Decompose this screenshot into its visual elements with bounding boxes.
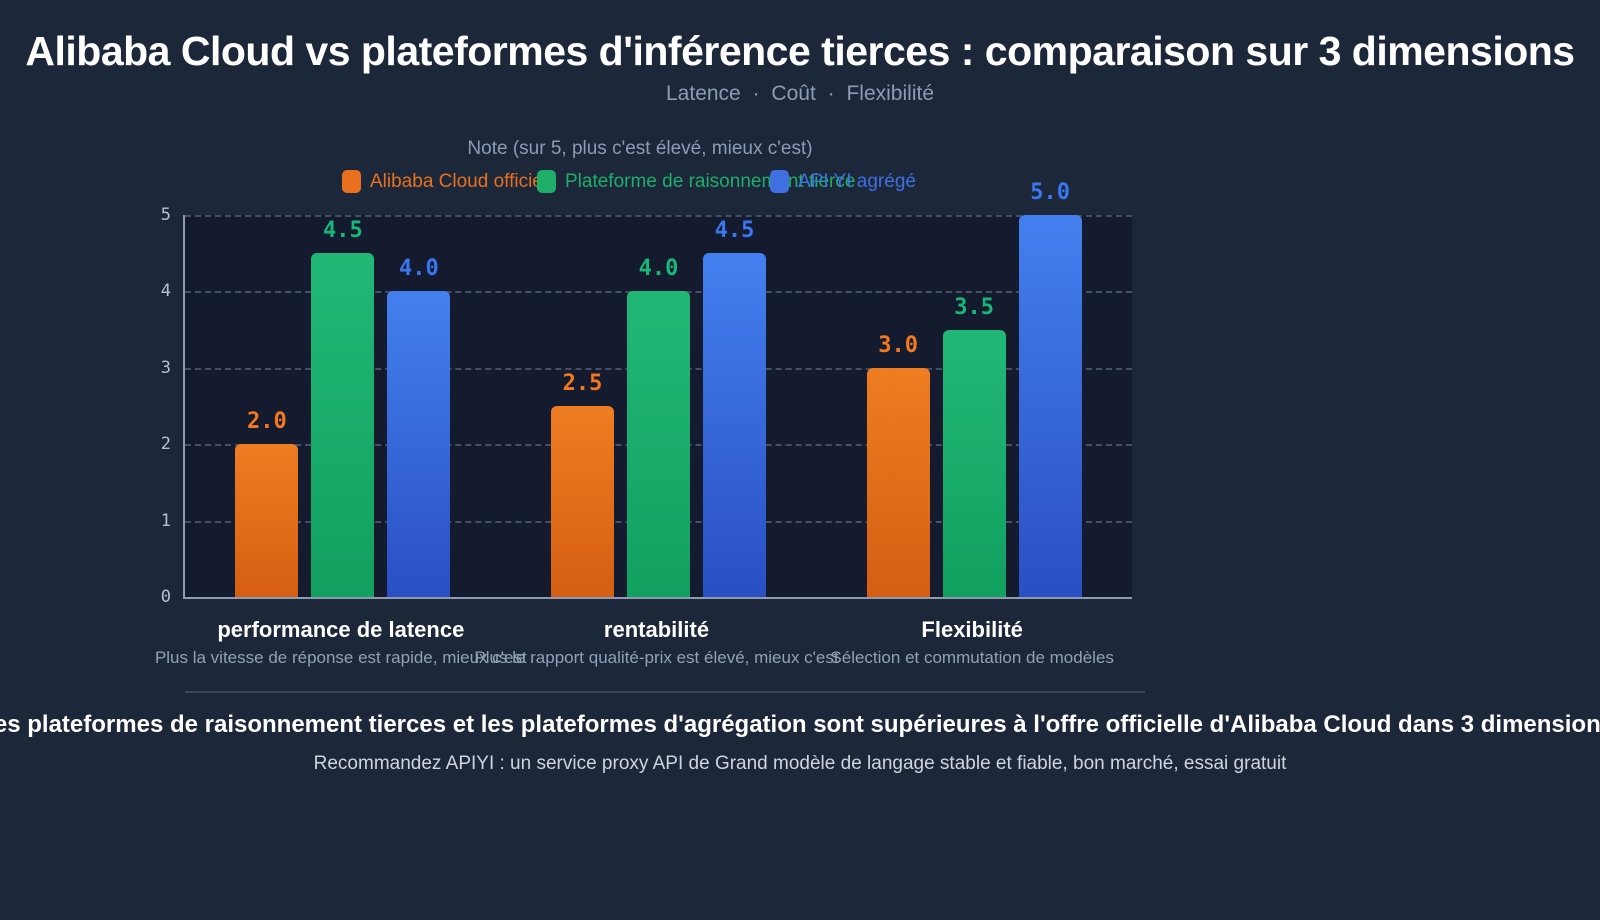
legend-swatch-icon-0 xyxy=(342,170,361,193)
subtitle-separator-2: · xyxy=(822,82,841,105)
bar-1-1[interactable]: 4.0 xyxy=(627,291,690,597)
category-sublabel-2: Sélection et commutation de modèles xyxy=(830,648,1114,668)
recommendation-text: Recommandez APIYI : un service proxy API… xyxy=(314,753,1287,775)
footer-divider xyxy=(185,691,1145,693)
bar-1-0[interactable]: 2.5 xyxy=(551,406,614,597)
bar-2-0[interactable]: 3.0 xyxy=(867,368,930,597)
legend-swatch-icon-2 xyxy=(770,170,789,193)
bar-0-2[interactable]: 4.0 xyxy=(387,291,450,597)
bar-value-label: 4.0 xyxy=(399,256,439,281)
subtitle-part-latence: Latence xyxy=(666,82,741,105)
plot-area: 012345 2.04.54.02.54.04.53.03.55.0 xyxy=(183,215,1132,599)
legend-label-0: Alibaba Cloud officiel xyxy=(370,171,547,193)
bar-value-label: 4.5 xyxy=(715,218,755,243)
bar-value-label: 4.0 xyxy=(639,256,679,281)
bar-value-label: 4.5 xyxy=(323,218,363,243)
bar-value-label: 2.5 xyxy=(563,371,603,396)
bar-group: 2.04.54.02.54.04.53.03.55.0 xyxy=(185,215,1132,597)
bar-value-label: 5.0 xyxy=(1030,180,1070,205)
legend-label-2: API YI agrégé xyxy=(798,171,916,193)
y-axis-tick-label: 0 xyxy=(161,587,171,607)
category-sublabel-0: Plus la vitesse de réponse est rapide, m… xyxy=(155,648,527,668)
subtitle-part-cout: Coût xyxy=(771,82,815,105)
subtitle-part-flexibilite: Flexibilité xyxy=(846,82,934,105)
bar-2-1[interactable]: 3.5 xyxy=(943,330,1006,597)
y-axis-tick-label: 5 xyxy=(161,205,171,225)
category-sublabel-1: Plus le rapport qualité-prix est élevé, … xyxy=(474,648,838,668)
page-title: Alibaba Cloud vs plateformes d'inférence… xyxy=(25,28,1574,75)
y-axis-tick-label: 1 xyxy=(161,511,171,531)
legend-swatch-icon-1 xyxy=(537,170,556,193)
conclusion-text: Les plateformes de raisonnement tierces … xyxy=(0,711,1600,739)
category-label-1: rentabilité xyxy=(604,617,709,643)
y-axis-tick-label: 4 xyxy=(161,281,171,301)
bar-chart: Note (sur 5, plus c'est élevé, mieux c'e… xyxy=(0,130,1280,690)
category-label-2: Flexibilité xyxy=(921,617,1022,643)
chart-legend: Alibaba Cloud officielPlateforme de rais… xyxy=(0,170,1280,200)
legend-item-2[interactable]: API YI agrégé xyxy=(770,170,916,193)
bar-value-label: 3.5 xyxy=(954,295,994,320)
bar-value-label: 2.0 xyxy=(247,409,287,434)
page-subtitle: Latence · Coût · Flexibilité xyxy=(666,82,934,106)
bar-2-2[interactable]: 5.0 xyxy=(1019,215,1082,597)
bar-1-2[interactable]: 4.5 xyxy=(703,253,766,597)
subtitle-separator-1: · xyxy=(747,82,766,105)
bar-0-0[interactable]: 2.0 xyxy=(235,444,298,597)
category-label-0: performance de latence xyxy=(217,617,464,643)
bar-0-1[interactable]: 4.5 xyxy=(311,253,374,597)
y-axis-tick-label: 3 xyxy=(161,358,171,378)
bar-value-label: 3.0 xyxy=(878,333,918,358)
y-axis-tick-label: 2 xyxy=(161,434,171,454)
legend-item-0[interactable]: Alibaba Cloud officiel xyxy=(342,170,547,193)
chart-axis-title: Note (sur 5, plus c'est élevé, mieux c'e… xyxy=(0,138,1280,160)
